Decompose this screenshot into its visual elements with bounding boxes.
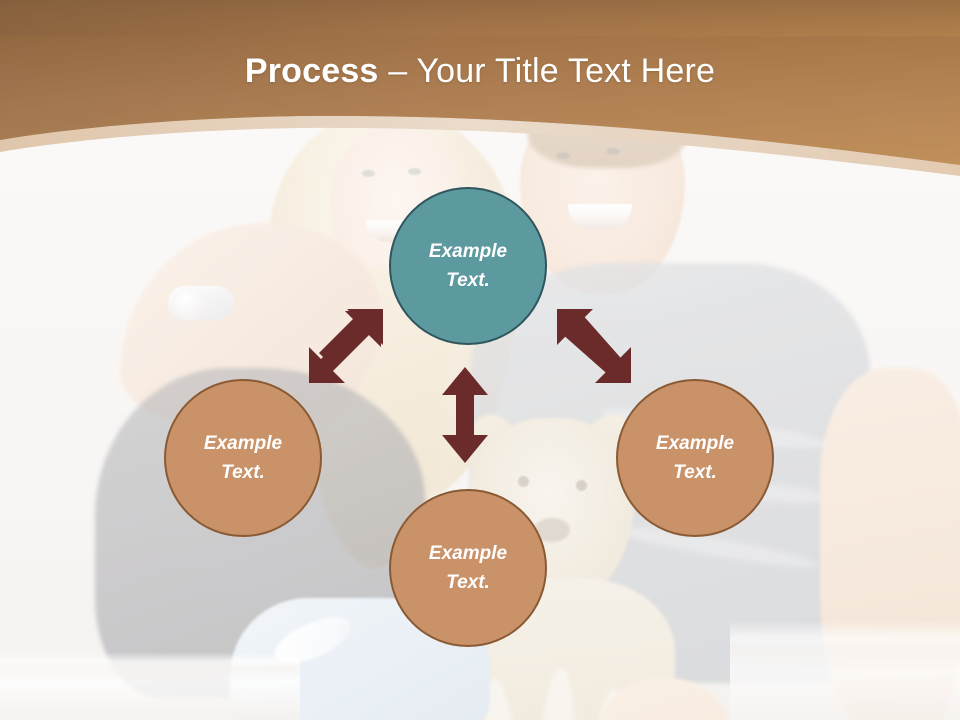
process-node-left-line1: Example xyxy=(204,429,282,458)
photo-woman-eye-right xyxy=(408,168,421,175)
photo-wall-baseboard-left xyxy=(0,652,300,720)
process-node-bottom[interactable]: Example Text. xyxy=(389,489,547,647)
photo-man-eye-left xyxy=(556,152,570,159)
photo-wall-baseboard-right xyxy=(730,620,960,720)
process-node-right-line2: Text. xyxy=(673,458,717,487)
process-node-right[interactable]: Example Text. xyxy=(616,379,774,537)
page-title-strong: Process xyxy=(245,52,379,90)
photo-wristwatch-face xyxy=(172,286,206,320)
process-node-left[interactable]: Example Text. xyxy=(164,379,322,537)
process-node-top-line2: Text. xyxy=(446,266,490,295)
photo-man-eye-right xyxy=(606,148,620,155)
process-node-right-line1: Example xyxy=(656,429,734,458)
page-title-rest: – Your Title Text Here xyxy=(379,52,716,90)
process-node-bottom-line2: Text. xyxy=(446,568,490,597)
process-node-left-line2: Text. xyxy=(221,458,265,487)
photo-man-hair xyxy=(528,118,688,168)
slide-canvas: Process – Your Title Text Here Example T… xyxy=(0,0,960,720)
photo-woman-eye-left xyxy=(362,170,375,177)
process-node-top[interactable]: Example Text. xyxy=(389,187,547,345)
process-node-top-line1: Example xyxy=(429,237,507,266)
photo-dog-eye-right xyxy=(576,480,587,491)
process-node-bottom-line1: Example xyxy=(429,539,507,568)
page-title: Process – Your Title Text Here xyxy=(0,49,960,93)
photo-dog-eye-left xyxy=(518,476,529,487)
